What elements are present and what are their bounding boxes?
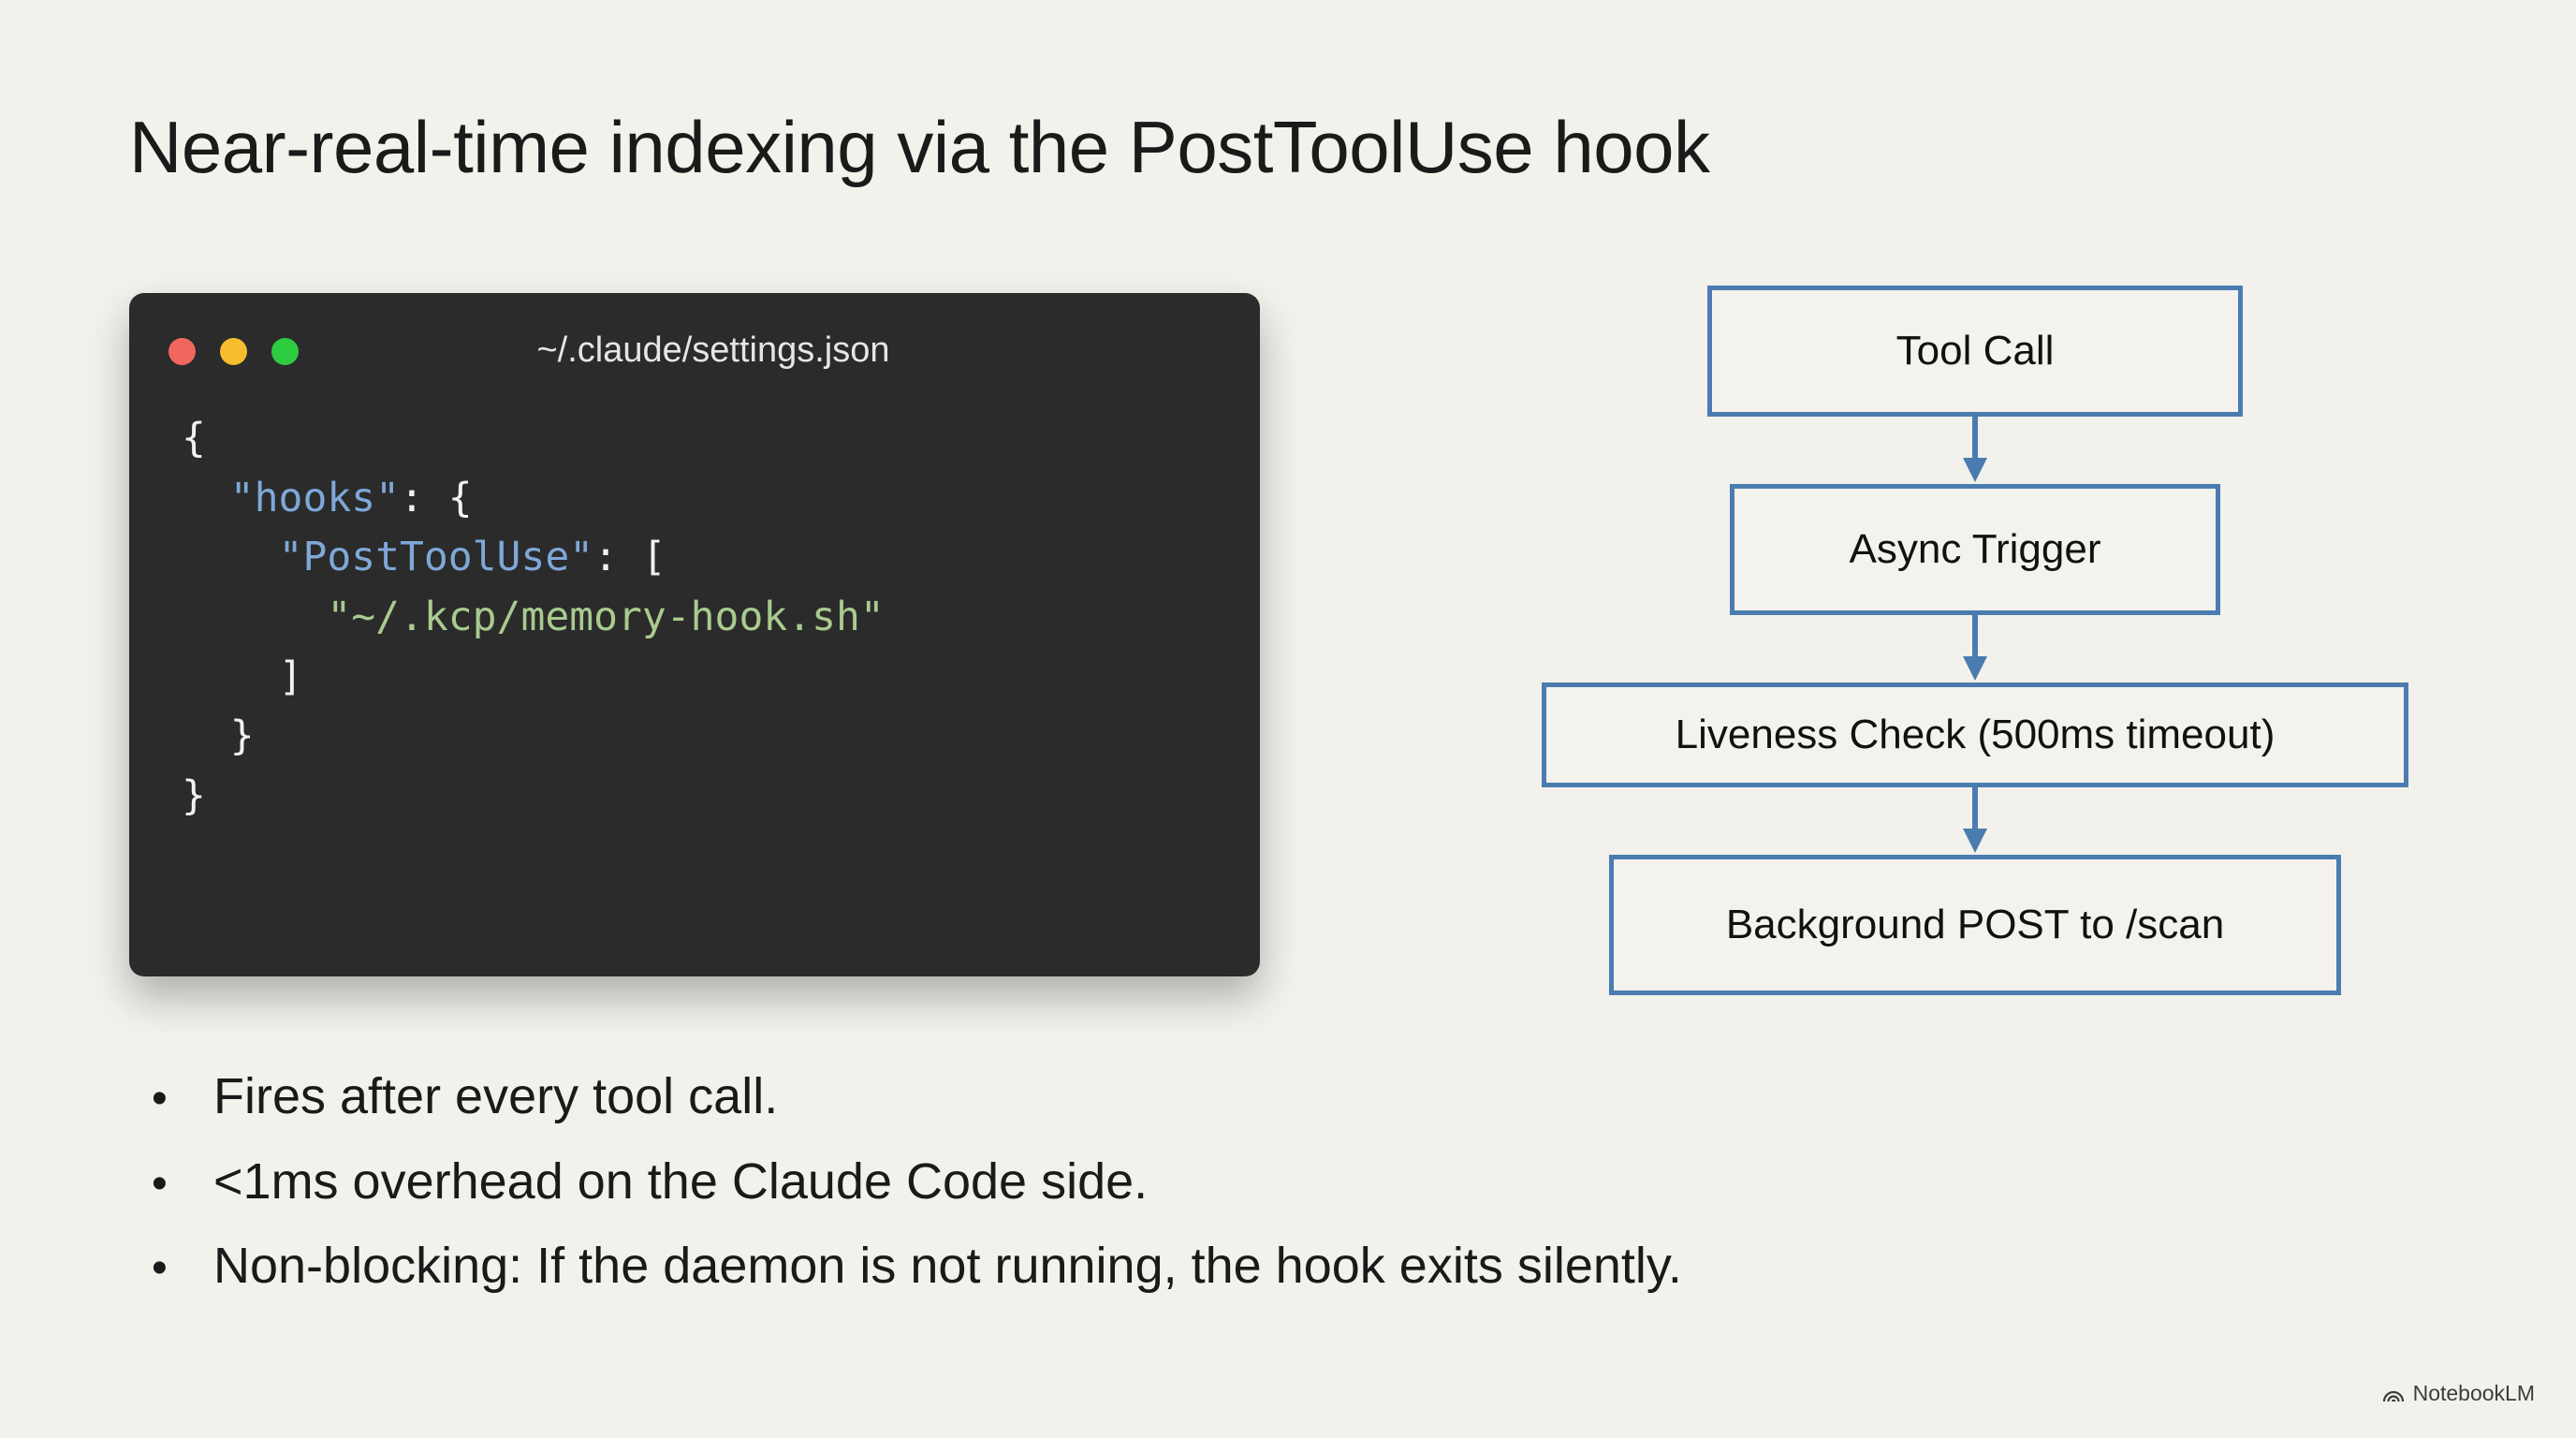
bullet-marker-icon: • [140,1077,213,1122]
flow-node-background-post: Background POST to /scan [1609,855,2341,995]
terminal-titlebar: ~/.claude/settings.json [129,293,1260,409]
notebooklm-label: NotebookLM [2413,1381,2535,1406]
flow-node-tool-call: Tool Call [1707,286,2243,417]
terminal-window: ~/.claude/settings.json { "hooks": { "Po… [129,293,1260,976]
list-item: • Non-blocking: If the daemon is not run… [140,1237,2387,1296]
flowchart-diagram: Tool Call Async Trigger Liveness Check (… [1526,286,2424,995]
code-string-hook-path: "~/.kcp/memory-hook.sh" [327,594,884,640]
terminal-filename: ~/.claude/settings.json [129,330,1260,371]
flow-arrow-2 [1526,615,2424,682]
bullet-text: <1ms overhead on the Claude Code side. [213,1152,1148,1211]
notebooklm-spiral-icon [2382,1385,2405,1403]
code-key-hooks: "hooks" [230,475,400,521]
code-line-hooks-rest: : { [400,475,473,521]
code-line-close-inner-brace: } [230,712,255,759]
bullet-marker-icon: • [140,1246,213,1291]
code-block: { "hooks": { "PostToolUse": [ "~/.kcp/me… [129,409,1260,826]
flow-arrow-1 [1526,417,2424,484]
code-line-close-outer-brace: } [182,772,206,819]
list-item: • Fires after every tool call. [140,1067,2387,1126]
bullet-list: • Fires after every tool call. • <1ms ov… [140,1067,2387,1322]
flow-node-async-trigger: Async Trigger [1730,484,2220,615]
flow-node-liveness-check: Liveness Check (500ms timeout) [1542,682,2408,787]
flow-row-2: Liveness Check (500ms timeout) [1526,682,2424,787]
bullet-text: Fires after every tool call. [213,1067,778,1126]
code-line-open-brace: { [182,415,206,462]
code-line-close-bracket: ] [279,653,303,700]
code-key-posttooluse: "PostToolUse" [279,534,594,580]
flow-row-3: Background POST to /scan [1526,855,2424,995]
notebooklm-watermark: NotebookLM [2382,1381,2535,1406]
bullet-text: Non-blocking: If the daemon is not runni… [213,1237,1682,1296]
flow-row-0: Tool Call [1526,286,2424,417]
code-line-posttooluse-rest: : [ [593,534,666,580]
list-item: • <1ms overhead on the Claude Code side. [140,1152,2387,1211]
page-title: Near-real-time indexing via the PostTool… [129,105,1710,190]
flow-row-1: Async Trigger [1526,484,2424,615]
flow-arrow-3 [1526,787,2424,855]
bullet-marker-icon: • [140,1162,213,1207]
